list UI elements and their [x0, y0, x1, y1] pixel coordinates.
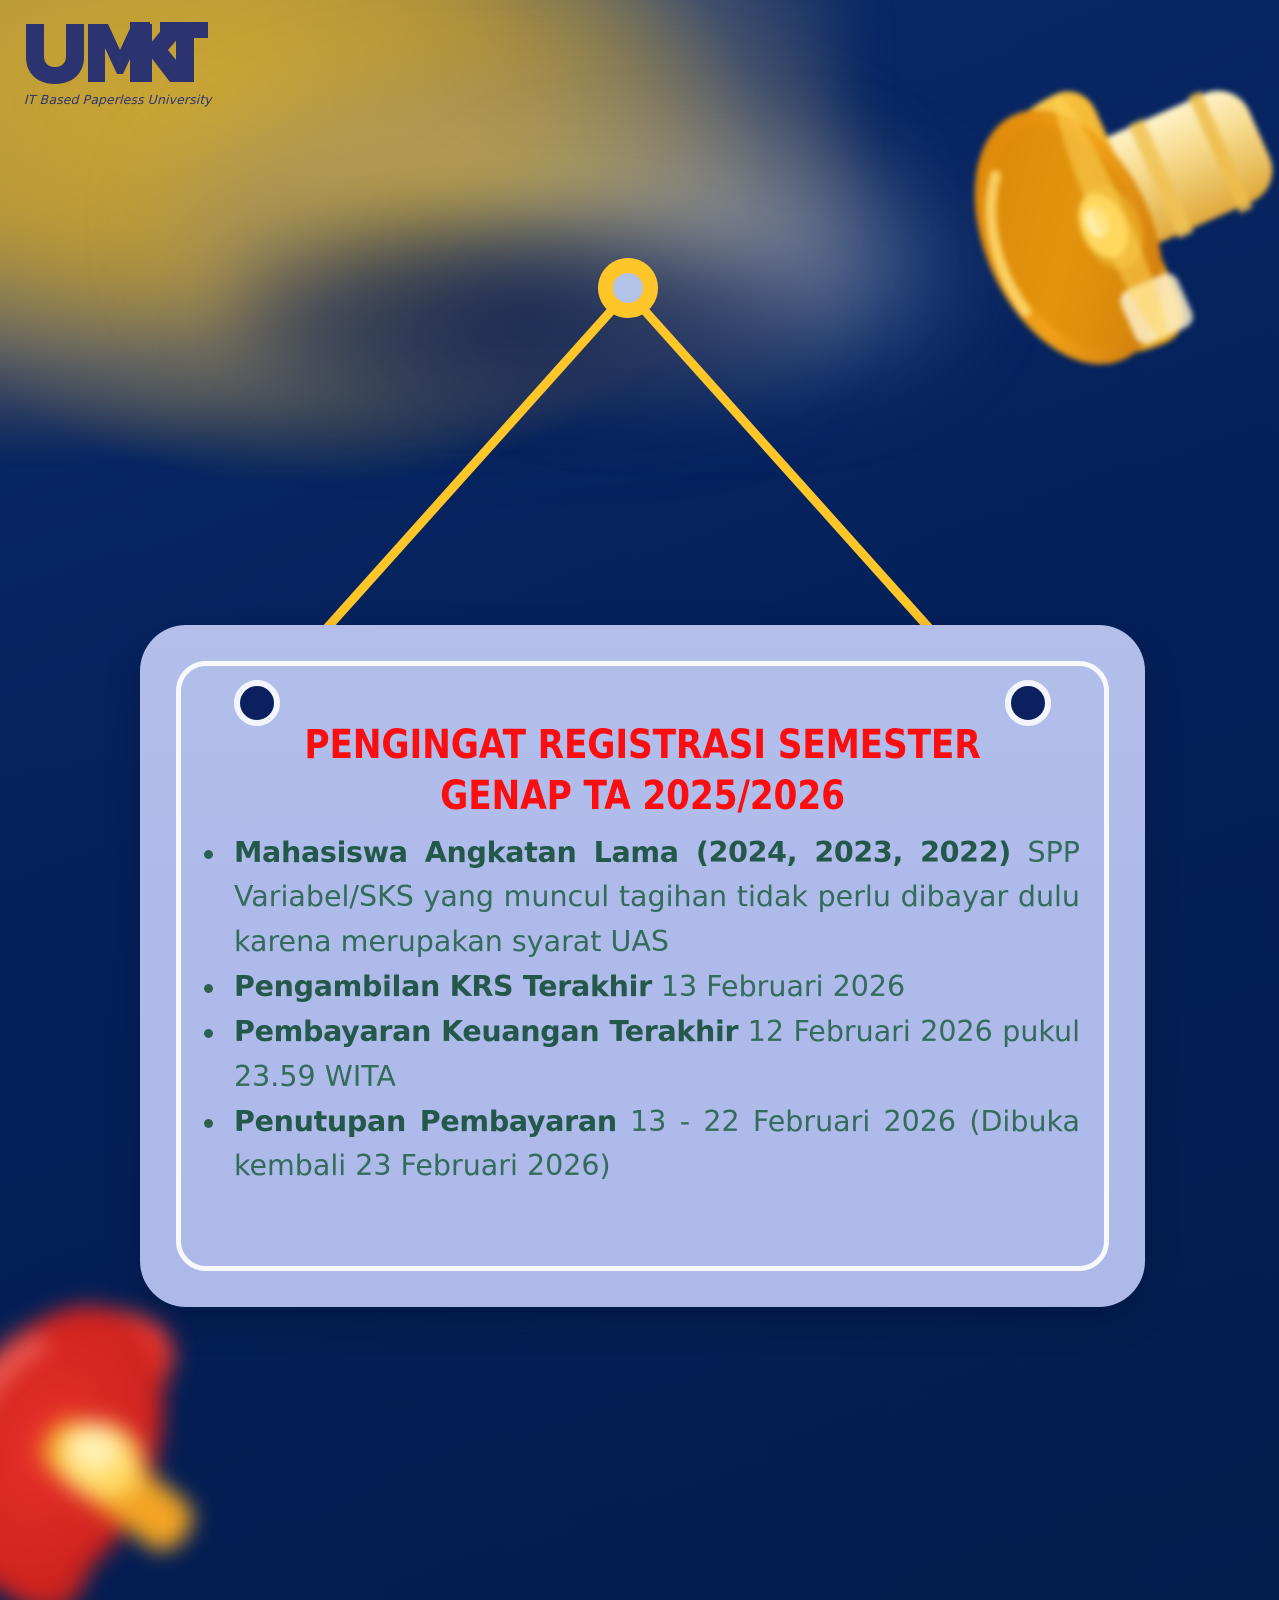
umkt-logo: IT Based Paperless University	[22, 18, 212, 106]
list-item-label: Mahasiswa Angkatan Lama (2024, 2023, 202…	[234, 836, 1011, 869]
megaphone-gold-icon	[915, 25, 1279, 415]
announcement-list: Mahasiswa Angkatan Lama (2024, 2023, 202…	[196, 831, 1080, 1190]
list-item-label: Pembayaran Keuangan Terakhir	[234, 1015, 738, 1048]
list-item: Pengambilan KRS Terakhir 13 Februari 202…	[196, 965, 1080, 1009]
umkt-tagline: IT Based Paperless University	[24, 92, 213, 107]
list-item-value: 13 Februari 2026	[652, 970, 905, 1003]
list-item-label: Pengambilan KRS Terakhir	[234, 970, 652, 1003]
list-item: Penutupan Pembayaran 13 - 22 Februari 20…	[196, 1100, 1080, 1189]
list-item: Mahasiswa Angkatan Lama (2024, 2023, 202…	[196, 831, 1080, 964]
list-item-label: Penutupan Pembayaran	[234, 1105, 617, 1138]
list-item: Pembayaran Keuangan Terakhir 12 Februari…	[196, 1010, 1080, 1099]
poster-canvas: PENGINGAT REGISTRASI SEMESTER GENAP TA 2…	[0, 0, 1279, 1600]
sign-board: PENGINGAT REGISTRASI SEMESTER GENAP TA 2…	[140, 625, 1145, 1307]
page-title: PENGINGAT REGISTRASI SEMESTER GENAP TA 2…	[262, 720, 1023, 822]
umkt-wordmark-icon	[22, 18, 212, 90]
